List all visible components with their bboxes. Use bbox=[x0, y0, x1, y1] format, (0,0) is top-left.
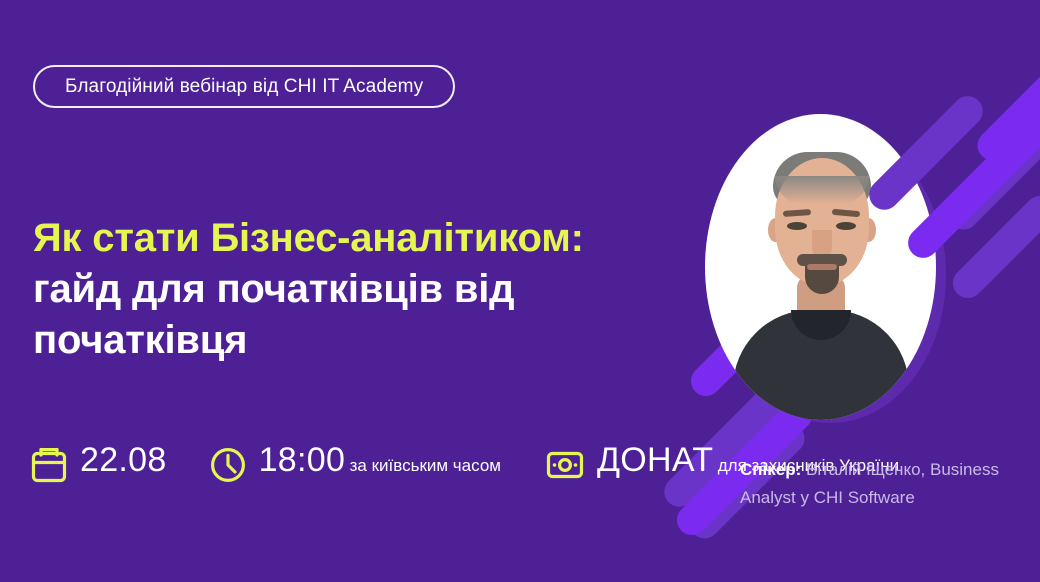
event-time-note: за київським часом bbox=[350, 456, 501, 475]
event-date-item: 22.08 bbox=[31, 443, 167, 489]
webinar-badge: Благодійний вебінар від CHI IT Academy bbox=[33, 65, 455, 108]
event-time-value: 18:00 bbox=[259, 441, 346, 479]
speaker-portrait bbox=[705, 114, 936, 420]
webinar-badge-label: Благодійний вебінар від CHI IT Academy bbox=[65, 76, 423, 98]
calendar-icon bbox=[31, 446, 67, 489]
banknote-icon bbox=[546, 446, 584, 489]
page-title-line-3: початківця bbox=[33, 318, 247, 362]
portrait-hair-fade bbox=[775, 176, 869, 204]
portrait-eye-left bbox=[787, 222, 807, 230]
speaker-avatar bbox=[705, 114, 936, 420]
webinar-banner: Благодійний вебінар від CHI IT Academy Я… bbox=[0, 0, 1040, 582]
stripe-muted-tr-3 bbox=[947, 190, 1040, 305]
portrait-eye-right bbox=[836, 222, 856, 230]
event-time-body: 18:00 за київським часом bbox=[259, 443, 501, 479]
event-time-item: 18:00 за київським часом bbox=[210, 443, 501, 489]
portrait-mouth bbox=[807, 264, 837, 270]
page-title-line-2: гайд для початківців від bbox=[33, 267, 514, 311]
event-date-body: 22.08 bbox=[80, 443, 167, 479]
stripe-bright-tr-2 bbox=[971, 39, 1040, 166]
speaker-caption-label: Спікер: bbox=[740, 460, 801, 479]
page-title: Як стати Бізнес-аналітиком: гайд для поч… bbox=[33, 213, 693, 367]
stripe-muted-tr-2 bbox=[942, 94, 1040, 235]
clock-icon bbox=[210, 446, 246, 489]
speaker-caption: Спікер: Віталій Іщенко, Business Analyst… bbox=[740, 456, 1010, 511]
page-title-line-1: Як стати Бізнес-аналітиком: bbox=[33, 216, 584, 260]
event-donate-value: ДОНАТ bbox=[597, 441, 713, 479]
event-date-value: 22.08 bbox=[80, 441, 167, 479]
